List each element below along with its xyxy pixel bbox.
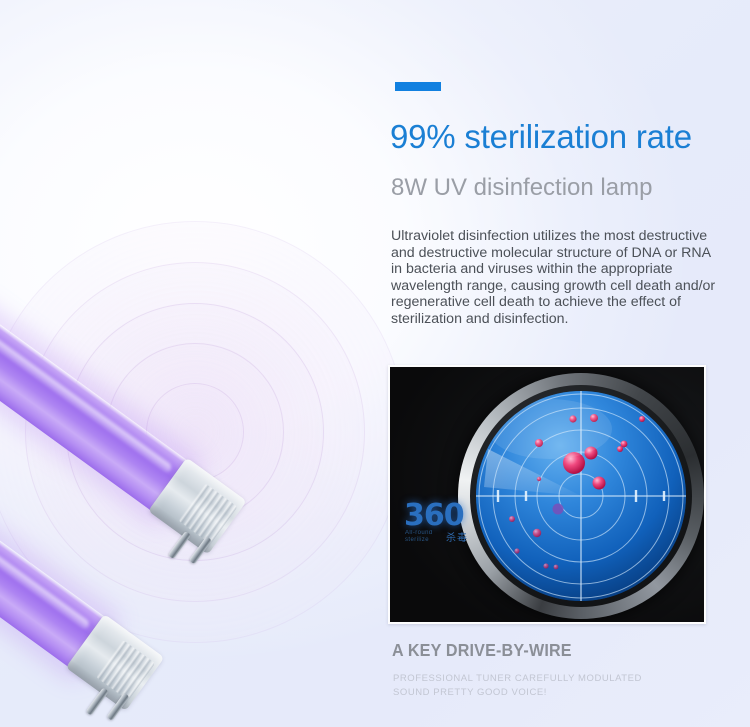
logo-360-chinese-label: 杀毒 bbox=[446, 529, 468, 544]
caption-heading: A KEY DRIVE-BY-WIRE bbox=[392, 640, 572, 661]
promo-banner: 99% sterilization rate 8W UV disinfectio… bbox=[0, 0, 750, 727]
caption-subtext: PROFESSIONAL TUNER CAREFULLY MODULATED S… bbox=[393, 672, 642, 700]
body-paragraph: Ultraviolet disinfection utilizes the mo… bbox=[391, 228, 719, 328]
caption-subtext-line1: PROFESSIONAL TUNER CAREFULLY MODULATED bbox=[393, 672, 642, 686]
page-title: 99% sterilization rate bbox=[390, 118, 692, 156]
page-subtitle: 8W UV disinfection lamp bbox=[391, 174, 652, 202]
caption-subtext-line2: SOUND PRETTY GOOD VOICE! bbox=[393, 686, 642, 700]
uv-tube-upper bbox=[0, 156, 254, 559]
uv-tube-lower-pin-1 bbox=[86, 687, 109, 715]
accent-bar bbox=[395, 82, 441, 91]
uv-tube-upper-pin-1 bbox=[168, 531, 191, 559]
logo-360-subtitle: All-round sterilize bbox=[405, 530, 433, 544]
logo-360-subtitle-line1: All-round bbox=[405, 530, 433, 537]
logo-360-subtitle-line2: sterilize bbox=[405, 537, 433, 544]
radar-photo-card: 360 All-round sterilize 杀毒 bbox=[388, 365, 706, 624]
logo-360: 360 bbox=[404, 498, 464, 533]
radar-screen bbox=[476, 391, 686, 601]
